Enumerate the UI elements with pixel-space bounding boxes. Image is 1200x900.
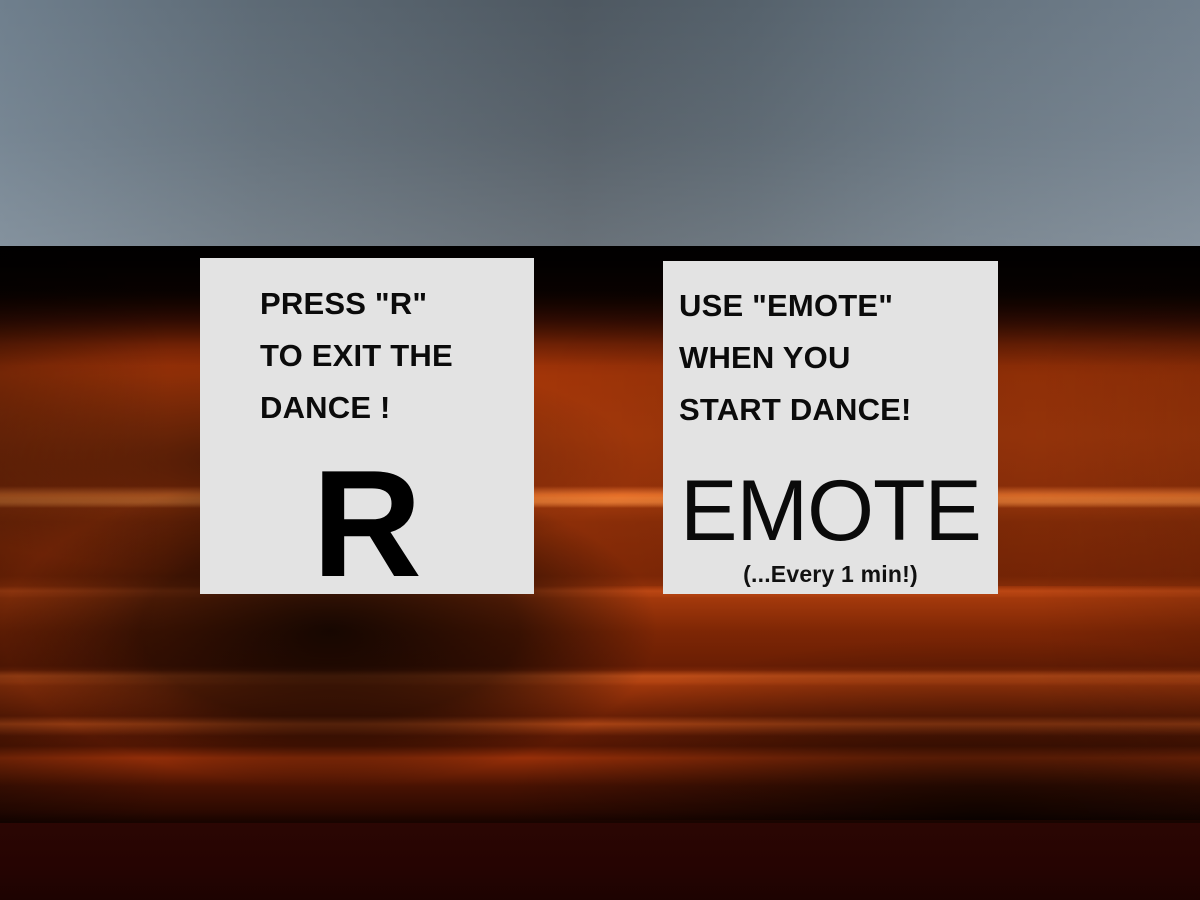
start-dance-headline-line-2: WHEN YOU [679, 332, 998, 384]
exit-dance-hint-card: PRESS "R" TO EXIT THE DANCE ! R [200, 258, 534, 594]
exit-dance-headline: PRESS "R" TO EXIT THE DANCE ! [260, 278, 534, 434]
start-dance-headline-line-3: START DANCE! [679, 384, 998, 436]
start-dance-headline: USE "EMOTE" WHEN YOU START DANCE! [679, 280, 998, 436]
start-dance-headline-line-1: USE "EMOTE" [679, 280, 998, 332]
background-bottom-band [0, 823, 1200, 900]
exit-dance-headline-line-1: PRESS "R" [260, 278, 534, 330]
background-sky [0, 0, 1200, 246]
game-screen: PRESS "R" TO EXIT THE DANCE ! R USE "EMO… [0, 0, 1200, 900]
exit-dance-headline-line-3: DANCE ! [260, 382, 534, 434]
background-floor [0, 246, 1200, 900]
emote-cooldown-note: (...Every 1 min!) [663, 563, 998, 586]
key-r-glyph: R [200, 448, 534, 600]
exit-dance-headline-line-2: TO EXIT THE [260, 330, 534, 382]
start-dance-hint-card: USE "EMOTE" WHEN YOU START DANCE! EMOTE … [663, 261, 998, 594]
emote-action-word: EMOTE [663, 468, 998, 554]
